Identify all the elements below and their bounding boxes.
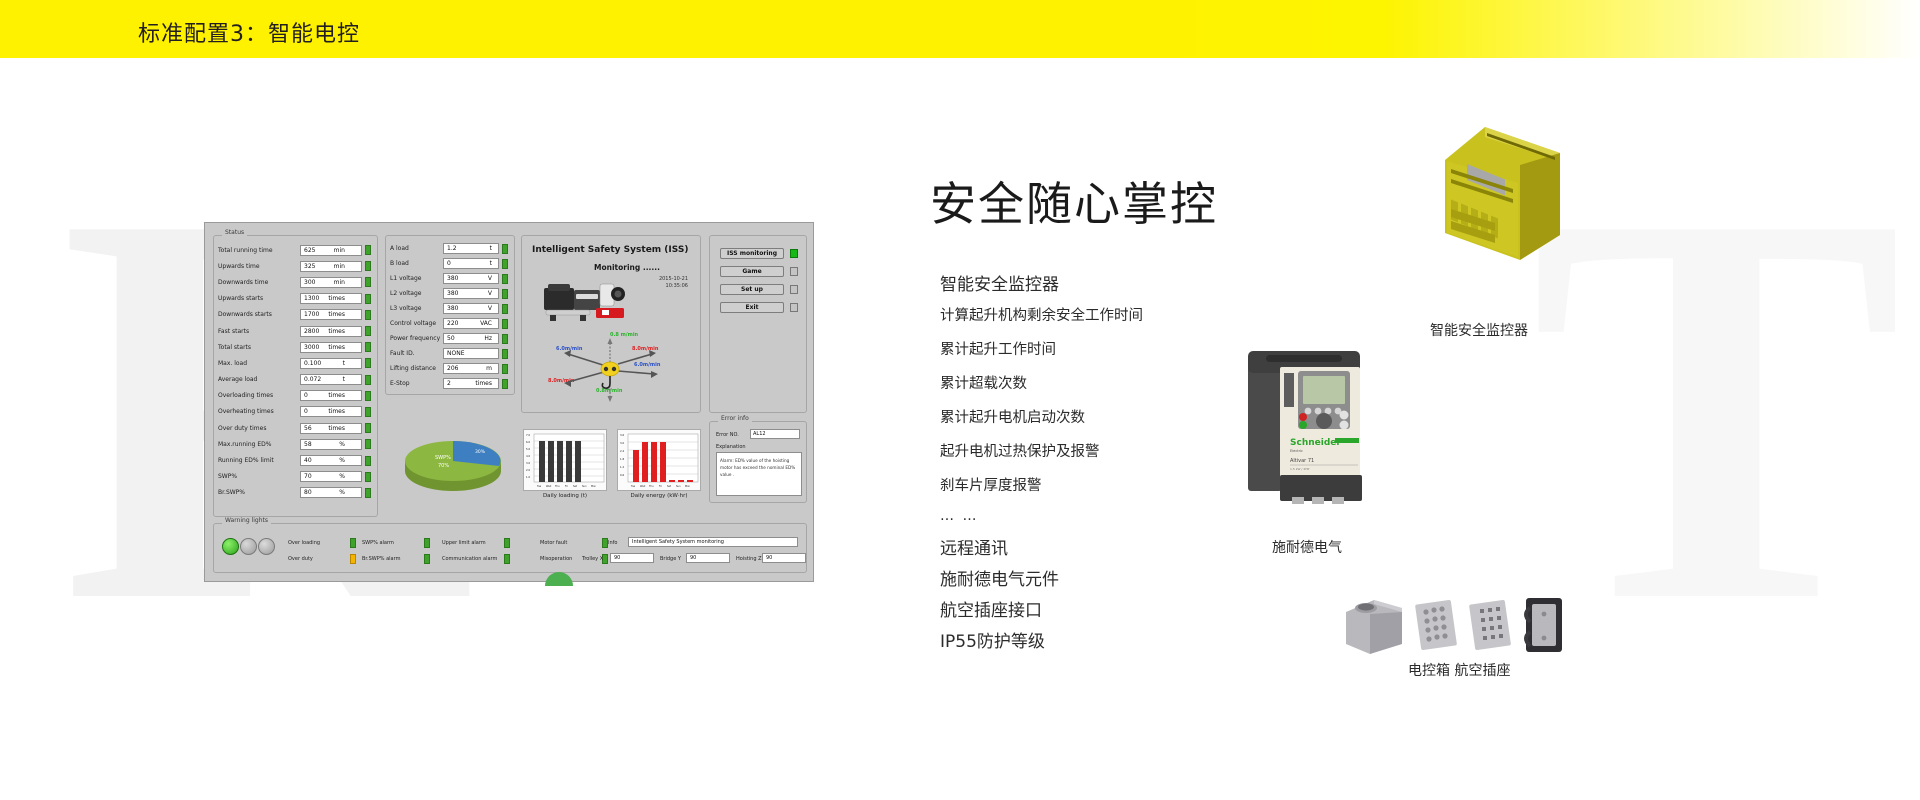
status-row-field[interactable]: 1300 times [300, 293, 362, 304]
svg-text:Electric: Electric [1290, 449, 1303, 453]
schneider-drive-caption: 施耐德电气 [1272, 537, 1342, 557]
status-row-field[interactable]: 300 min [300, 277, 362, 288]
hmi-button-exit[interactable]: Exit [720, 302, 784, 313]
error-group-label: Error info [718, 415, 752, 422]
iss-app-title: Intelligent Safety System (ISS) [532, 245, 688, 255]
status-row-led [365, 375, 371, 385]
status-row-led [365, 488, 371, 498]
status-row-led [365, 277, 371, 287]
svg-text:Mon: Mon [591, 485, 597, 488]
load-row-field[interactable]: 380 V [443, 273, 499, 284]
load-rows: A load 1.2 t B load 0 t L1 voltage 380 V… [386, 236, 514, 391]
hoisting-label: Hoisting Z [736, 556, 762, 562]
status-row-field[interactable]: 1700 times [300, 309, 362, 320]
load-row-label: L1 voltage [390, 275, 443, 282]
page-title: 标准配置3：智能电控 [138, 16, 360, 48]
status-row-value: 0.100 [301, 360, 343, 367]
svg-text:2.4: 2.4 [620, 449, 624, 453]
status-row-field[interactable]: 625 min [300, 245, 362, 256]
svg-text:3.0: 3.0 [620, 441, 624, 445]
warning-lamp-green [222, 538, 239, 555]
load-row-led [502, 364, 508, 374]
hmi-button-led [790, 249, 798, 258]
svg-text:Fri: Fri [659, 485, 662, 488]
status-row-led [365, 407, 371, 417]
status-row-value: 625 [301, 247, 334, 254]
svg-text:5.0: 5.0 [526, 447, 530, 451]
explanation-box: Alarm: ED% value of the hoisting motor h… [716, 452, 802, 496]
load-row-unit: Hz [484, 335, 498, 342]
warning-item-led [350, 538, 356, 548]
hmi-screenshot-panel: Status Total running time 625 min Upward… [204, 222, 814, 582]
svg-text:Wed: Wed [640, 485, 646, 488]
hmi-button-iss-monitoring[interactable]: ISS monitoring [720, 248, 784, 259]
load-row-value: 206 [444, 365, 486, 372]
load-row-field[interactable]: 2 times [443, 378, 499, 389]
svg-text:Tue: Tue [631, 485, 636, 488]
load-group: A load 1.2 t B load 0 t L1 voltage 380 V… [385, 235, 515, 395]
svg-text:Schneider: Schneider [1290, 438, 1341, 448]
status-row-value: 300 [301, 279, 334, 286]
feature-item: 智能安全监控器 [940, 270, 1360, 295]
status-row-unit: times [328, 408, 361, 415]
status-row-led [365, 294, 371, 304]
status-row-value: 1300 [301, 295, 328, 302]
svg-text:Thu: Thu [555, 485, 560, 488]
svg-text:2.0: 2.0 [526, 468, 530, 472]
status-row-led [365, 472, 371, 482]
svg-text:1.0: 1.0 [526, 475, 530, 479]
status-row-value: 0 [301, 408, 328, 415]
daily-energy-svg: 3.63.02.4 1.81.20.6 TueWedThu FriSatSunM… [618, 430, 702, 492]
load-row-unit: V [488, 275, 498, 282]
bottom-indicator [545, 572, 573, 586]
safety-relay-image [1425, 105, 1575, 265]
status-row-unit: t [343, 376, 361, 383]
status-row-field[interactable]: 2800 times [300, 326, 362, 337]
connectors-image [1340, 590, 1570, 660]
warning-item-label: Over duty [288, 556, 313, 562]
load-row-field[interactable]: 380 V [443, 303, 499, 314]
load-row: L1 voltage 380 V [386, 271, 514, 286]
warning-item-led [424, 538, 430, 548]
status-row-unit: % [339, 473, 361, 480]
status-group-label: Status [222, 229, 247, 236]
load-row: Fault ID. NONE [386, 346, 514, 361]
load-row-value: 380 [444, 290, 488, 297]
load-row-label: Lifting distance [390, 365, 443, 372]
error-no-field[interactable]: AL12 [750, 429, 800, 439]
warning-item-label: Motor fault [540, 540, 567, 546]
svg-text:0.6: 0.6 [620, 473, 624, 477]
svg-text:3.0: 3.0 [526, 461, 530, 465]
hmi-button-led [790, 267, 798, 276]
feature-item: IP55防护等级 [940, 627, 1360, 652]
status-row: Total running time 625 min [214, 242, 377, 258]
error-no-label: Error NO. [716, 432, 739, 438]
load-row: L2 voltage 380 V [386, 286, 514, 301]
warning-item-led [424, 554, 430, 564]
error-info-group: Error info Error NO. AL12 Explanation Al… [709, 421, 807, 503]
warning-item-led [504, 538, 510, 548]
status-row: Running ED% limit 40 % [214, 452, 377, 468]
status-row-field[interactable]: 80 % [300, 487, 362, 498]
status-row-label: Total starts [218, 344, 300, 351]
pie-label-other: 30% [475, 449, 486, 455]
status-row-label: Downwards starts [218, 311, 300, 318]
status-row: Max.running ED% 58 % [214, 436, 377, 452]
status-row-label: Overloading times [218, 392, 300, 399]
hmi-button-led [790, 303, 798, 312]
status-row-field[interactable]: 70 % [300, 471, 362, 482]
status-row-unit: min [334, 247, 361, 254]
warning-lights-group: Warning lights Over loading Over duty SW… [213, 523, 807, 573]
status-row-label: Max.running ED% [218, 441, 300, 448]
load-row-label: Power frequency [390, 335, 443, 342]
hoist-machine-image [540, 278, 645, 333]
status-row-led [365, 391, 371, 401]
status-row-label: Br.SWP% [218, 489, 300, 496]
load-row-label: B load [390, 260, 443, 267]
svg-text:Fri: Fri [565, 485, 568, 488]
svg-text:Sat: Sat [573, 485, 577, 488]
status-row-label: Overheating times [218, 408, 300, 415]
load-row-led [502, 244, 508, 254]
load-row-unit: t [490, 260, 498, 267]
daily-loading-chart: 7.06.05.0 4.03.02.01.0 TueWedThu FriSatS… [523, 429, 607, 491]
pie-label-swp-value: 70% [438, 463, 449, 469]
hmi-button-game[interactable]: Game [720, 266, 784, 277]
status-row: Average load 0.072 t [214, 372, 377, 388]
svg-text:3.6: 3.6 [620, 433, 624, 437]
load-row-field[interactable]: 220 VAC [443, 318, 499, 329]
status-row-label: Fast starts [218, 328, 300, 335]
bridge-label: Bridge Y [660, 556, 681, 562]
load-row-unit: V [488, 290, 498, 297]
status-row-value: 70 [301, 473, 339, 480]
status-row: Fast starts 2800 times [214, 323, 377, 339]
status-row: Downwards starts 1700 times [214, 307, 377, 323]
warning-group-label: Warning lights [222, 517, 271, 524]
status-row-value: 80 [301, 489, 339, 496]
load-row-label: Fault ID. [390, 350, 443, 357]
status-row-label: Upwards starts [218, 295, 300, 302]
status-row-unit: t [343, 360, 361, 367]
status-row-field[interactable]: 58 % [300, 439, 362, 450]
svg-text:Wed: Wed [546, 485, 552, 488]
load-row-value: 2 [444, 380, 475, 387]
daily-loading-caption: Daily loading (t) [523, 493, 607, 499]
status-row-unit: times [328, 392, 361, 399]
status-row-led [365, 326, 371, 336]
svg-text:Mon: Mon [685, 485, 691, 488]
load-row-unit: m [486, 365, 498, 372]
status-row: Overloading times 0 times [214, 388, 377, 404]
load-row-value: 380 [444, 275, 488, 282]
status-row-label: SWP% [218, 473, 300, 480]
load-row-led [502, 349, 508, 359]
load-row-value: 50 [444, 335, 484, 342]
status-row-label: Downwards time [218, 279, 300, 286]
warning-item-led [504, 554, 510, 564]
svg-text:6.0: 6.0 [526, 440, 530, 444]
feature-item: 航空插座接口 [940, 596, 1360, 621]
daily-energy-caption: Daily energy (kW·hr) [617, 493, 701, 499]
status-row-unit: % [339, 489, 361, 496]
warning-item-label: Upper limit alarm [442, 540, 486, 546]
status-row-led [365, 310, 371, 320]
status-row: Overheating times 0 times [214, 404, 377, 420]
status-row-unit: times [328, 425, 361, 432]
swp-pie-chart: SWP% 70% 30% [395, 423, 515, 503]
explanation-label: Explanation [716, 444, 746, 450]
status-row-label: Total running time [218, 247, 300, 254]
status-row-label: Average load [218, 376, 300, 383]
load-row-led [502, 289, 508, 299]
warning-item-label: Communication alarm [442, 556, 497, 562]
load-row: A load 1.2 t [386, 241, 514, 256]
svg-text:Tue: Tue [537, 485, 542, 488]
status-row-value: 325 [301, 263, 334, 270]
status-row-led [365, 342, 371, 352]
control-buttons-group: ISS monitoring Game Set up Exit [709, 235, 807, 413]
svg-text:Thu: Thu [649, 485, 654, 488]
explanation-text: Alarm: ED% value of the hoisting motor h… [717, 453, 801, 478]
load-row-field[interactable]: 206 m [443, 363, 499, 374]
load-row-label: L2 voltage [390, 290, 443, 297]
warning-item-label: Misoperation [540, 556, 572, 562]
trolley-label: Trolley X [582, 556, 603, 562]
warning-item-label: Over loading [288, 540, 320, 546]
load-row-field[interactable]: 50 Hz [443, 333, 499, 344]
load-row-unit: times [475, 380, 498, 387]
status-row-value: 0 [301, 392, 328, 399]
load-row-unit: t [490, 245, 498, 252]
load-row-led [502, 274, 508, 284]
status-row-value: 56 [301, 425, 328, 432]
page-header: 标准配置3：智能电控 [0, 0, 1920, 58]
status-row-unit: % [339, 441, 361, 448]
load-row-label: A load [390, 245, 443, 252]
status-row-value: 58 [301, 441, 339, 448]
status-row-label: Upwards time [218, 263, 300, 270]
status-row-field[interactable]: 0.072 t [300, 374, 362, 385]
iss-main-group: Intelligent Safety System (ISS) Monitori… [521, 235, 701, 413]
warning-item-label: Br.SWP% alarm [362, 556, 400, 562]
status-rows: Total running time 625 min Upwards time … [214, 236, 377, 501]
load-row-label: E-Stop [390, 380, 443, 387]
hoisting-field[interactable]: 90 [762, 553, 806, 563]
load-row-value: 380 [444, 305, 488, 312]
status-row: Max. load 0.100 t [214, 355, 377, 371]
status-row-field[interactable]: 40 % [300, 455, 362, 466]
load-row-label: L3 voltage [390, 305, 443, 312]
feature-item: 计算起升机构剩余安全工作时间 [940, 304, 1360, 325]
status-row: Total starts 3000 times [214, 339, 377, 355]
status-row-value: 1700 [301, 311, 328, 318]
schneider-drive-image: Schneider Electric Altivar 71 1.5 kW / 2… [1240, 345, 1380, 515]
info-label: Info [608, 540, 617, 546]
warning-lamp-yellow-off [240, 538, 257, 555]
daily-loading-svg: 7.06.05.0 4.03.02.01.0 TueWedThu FriSatS… [524, 430, 608, 492]
hmi-button-led [790, 285, 798, 294]
svg-text:1.2: 1.2 [620, 465, 624, 469]
status-row-field[interactable]: 56 times [300, 423, 362, 434]
warning-item-label: SWP% alarm [362, 540, 394, 546]
warning-item-led [350, 554, 356, 564]
status-row: Upwards starts 1300 times [214, 291, 377, 307]
svg-text:7.0: 7.0 [526, 433, 530, 437]
info-field[interactable]: Intelligent Safety System monitoring [628, 537, 798, 547]
load-row-led [502, 379, 508, 389]
iss-monitoring-label: Monitoring ...... [594, 263, 660, 272]
status-row-unit: times [328, 344, 361, 351]
load-row-unit: V [488, 305, 498, 312]
status-row-unit: times [328, 328, 361, 335]
load-row: Control voltage 220 VAC [386, 316, 514, 331]
load-row-value: 220 [444, 320, 480, 327]
hmi-button-set-up[interactable]: Set up [720, 284, 784, 295]
status-row-field[interactable]: 0 times [300, 406, 362, 417]
status-row: Upwards time 325 min [214, 258, 377, 274]
hero-title: 安全随心掌控 [930, 168, 1218, 234]
load-row-led [502, 304, 508, 314]
load-row: L3 voltage 380 V [386, 301, 514, 316]
feature-item: 施耐德电气元件 [940, 565, 1360, 590]
pie-chart-svg: SWP% 70% 30% [395, 423, 515, 503]
svg-text:Altivar 71: Altivar 71 [1290, 458, 1314, 464]
status-row-field[interactable]: 3000 times [300, 342, 362, 353]
status-row-field[interactable]: 0 times [300, 390, 362, 401]
status-row-led [365, 261, 371, 271]
load-row-led [502, 259, 508, 269]
status-row-label: Max. load [218, 360, 300, 367]
load-row-value: NONE [444, 350, 492, 357]
load-row: Lifting distance 206 m [386, 361, 514, 376]
load-row-value: 1.2 [444, 245, 490, 252]
safety-relay-caption: 智能安全监控器 [1430, 320, 1528, 340]
status-row-label: Running ED% limit [218, 457, 300, 464]
load-row-field[interactable]: NONE [443, 348, 499, 359]
svg-text:1.5 kW / 2HP: 1.5 kW / 2HP [1290, 467, 1310, 471]
status-row: Downwards time 300 min [214, 274, 377, 290]
watermark-letter-right: T [1530, 128, 1904, 688]
load-row-unit: VAC [480, 320, 498, 327]
status-row-led [365, 439, 371, 449]
load-row-label: Control voltage [390, 320, 443, 327]
load-row-led [502, 319, 508, 329]
warning-lamp-red-off [258, 538, 275, 555]
status-row-unit: % [339, 457, 361, 464]
status-row-led [365, 423, 371, 433]
svg-text:Sun: Sun [582, 485, 587, 488]
load-row: E-Stop 2 times [386, 376, 514, 391]
status-row-unit: times [328, 311, 361, 318]
daily-energy-chart: 3.63.02.4 1.81.20.6 TueWedThu FriSatSunM… [617, 429, 701, 491]
hook-vector-diagram [548, 336, 678, 406]
load-row-field[interactable]: 1.2 t [443, 243, 499, 254]
load-row: Power frequency 50 Hz [386, 331, 514, 346]
status-row: Over duty times 56 times [214, 420, 377, 436]
status-row-field[interactable]: 325 min [300, 261, 362, 272]
status-row-value: 2800 [301, 328, 328, 335]
load-row: B load 0 t [386, 256, 514, 271]
status-row-unit: times [328, 295, 361, 302]
status-group: Status Total running time 625 min Upward… [213, 235, 378, 517]
load-row-value: 0 [444, 260, 490, 267]
status-row-value: 0.072 [301, 376, 343, 383]
bridge-field[interactable]: 90 [686, 553, 730, 563]
pie-label-swp: SWP% [435, 455, 451, 461]
svg-text:Sat: Sat [667, 485, 671, 488]
svg-text:4.0: 4.0 [526, 454, 530, 458]
status-row-led [365, 456, 371, 466]
status-row-value: 3000 [301, 344, 328, 351]
status-row-label: Over duty times [218, 425, 300, 432]
status-row-led [365, 358, 371, 368]
status-row: SWP% 70 % [214, 469, 377, 485]
load-row-field[interactable]: 0 t [443, 258, 499, 269]
status-row: Br.SWP% 80 % [214, 485, 377, 501]
load-row-led [502, 334, 508, 344]
trolley-field[interactable]: 90 [610, 553, 654, 563]
status-row-value: 40 [301, 457, 339, 464]
status-row-unit: min [334, 279, 361, 286]
svg-text:Sun: Sun [676, 485, 681, 488]
connectors-caption: 电控箱 航空插座 [1408, 660, 1510, 680]
status-row-led [365, 245, 371, 255]
svg-text:1.8: 1.8 [620, 457, 624, 461]
status-row-unit: min [334, 263, 361, 270]
load-row-field[interactable]: 380 V [443, 288, 499, 299]
status-row-field[interactable]: 0.100 t [300, 358, 362, 369]
